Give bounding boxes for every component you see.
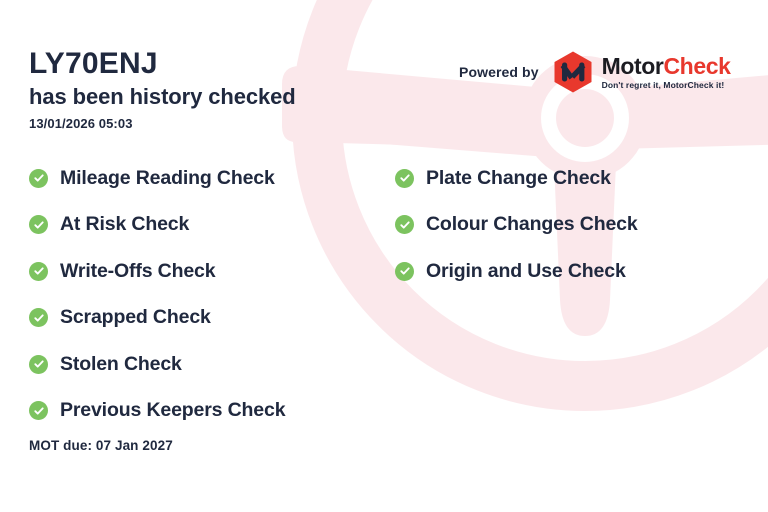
check-item-mileage-reading: Mileage Reading Check xyxy=(29,155,389,202)
check-list-right: Plate Change Check Colour Changes Check … xyxy=(395,155,755,295)
powered-by-block: Powered by MotorCheck Don't regret it, M… xyxy=(459,50,731,94)
check-label: Colour Changes Check xyxy=(426,213,638,236)
check-circle-icon xyxy=(29,355,48,374)
registration-plate: LY70ENJ xyxy=(29,48,158,80)
check-circle-icon xyxy=(29,169,48,188)
wordmark-motor: Motor xyxy=(602,53,664,79)
check-circle-icon xyxy=(29,262,48,281)
check-label: Previous Keepers Check xyxy=(60,399,285,422)
check-circle-icon xyxy=(395,262,414,281)
check-item-scrapped: Scrapped Check xyxy=(29,295,389,342)
check-item-at-risk: At Risk Check xyxy=(29,202,389,249)
page-title: has been history checked xyxy=(29,85,296,109)
check-item-write-offs: Write-Offs Check xyxy=(29,248,389,295)
motorcheck-hexagon-icon xyxy=(551,50,595,94)
check-item-previous-keepers: Previous Keepers Check xyxy=(29,388,389,435)
motorcheck-logo[interactable]: MotorCheck Don't regret it, MotorCheck i… xyxy=(551,50,731,94)
check-circle-icon xyxy=(395,169,414,188)
check-circle-icon xyxy=(29,308,48,327)
check-circle-icon xyxy=(395,215,414,234)
wordmark-check: Check xyxy=(663,53,730,79)
check-label: At Risk Check xyxy=(60,213,189,236)
check-item-stolen: Stolen Check xyxy=(29,341,389,388)
check-label: Scrapped Check xyxy=(60,306,211,329)
brand-tagline: Don't regret it, MotorCheck it! xyxy=(602,81,731,90)
check-timestamp: 13/01/2026 05:03 xyxy=(29,116,133,131)
check-label: Stolen Check xyxy=(60,353,182,376)
check-circle-icon xyxy=(29,401,48,420)
check-item-colour-changes: Colour Changes Check xyxy=(395,202,755,249)
check-label: Plate Change Check xyxy=(426,167,611,190)
check-label: Write-Offs Check xyxy=(60,260,215,283)
check-item-plate-change: Plate Change Check xyxy=(395,155,755,202)
history-check-banner: LY70ENJ has been history checked 13/01/2… xyxy=(0,0,768,512)
check-circle-icon xyxy=(29,215,48,234)
banner-content: LY70ENJ has been history checked 13/01/2… xyxy=(0,0,768,512)
mot-due-text: MOT due: 07 Jan 2027 xyxy=(29,438,173,453)
powered-by-label: Powered by xyxy=(459,64,539,80)
motorcheck-wordmark-block: MotorCheck Don't regret it, MotorCheck i… xyxy=(602,55,731,90)
check-label: Origin and Use Check xyxy=(426,260,626,283)
motorcheck-wordmark: MotorCheck xyxy=(602,55,731,78)
check-item-origin-and-use: Origin and Use Check xyxy=(395,248,755,295)
check-list-left: Mileage Reading Check At Risk Check Writ… xyxy=(29,155,389,434)
check-label: Mileage Reading Check xyxy=(60,167,275,190)
